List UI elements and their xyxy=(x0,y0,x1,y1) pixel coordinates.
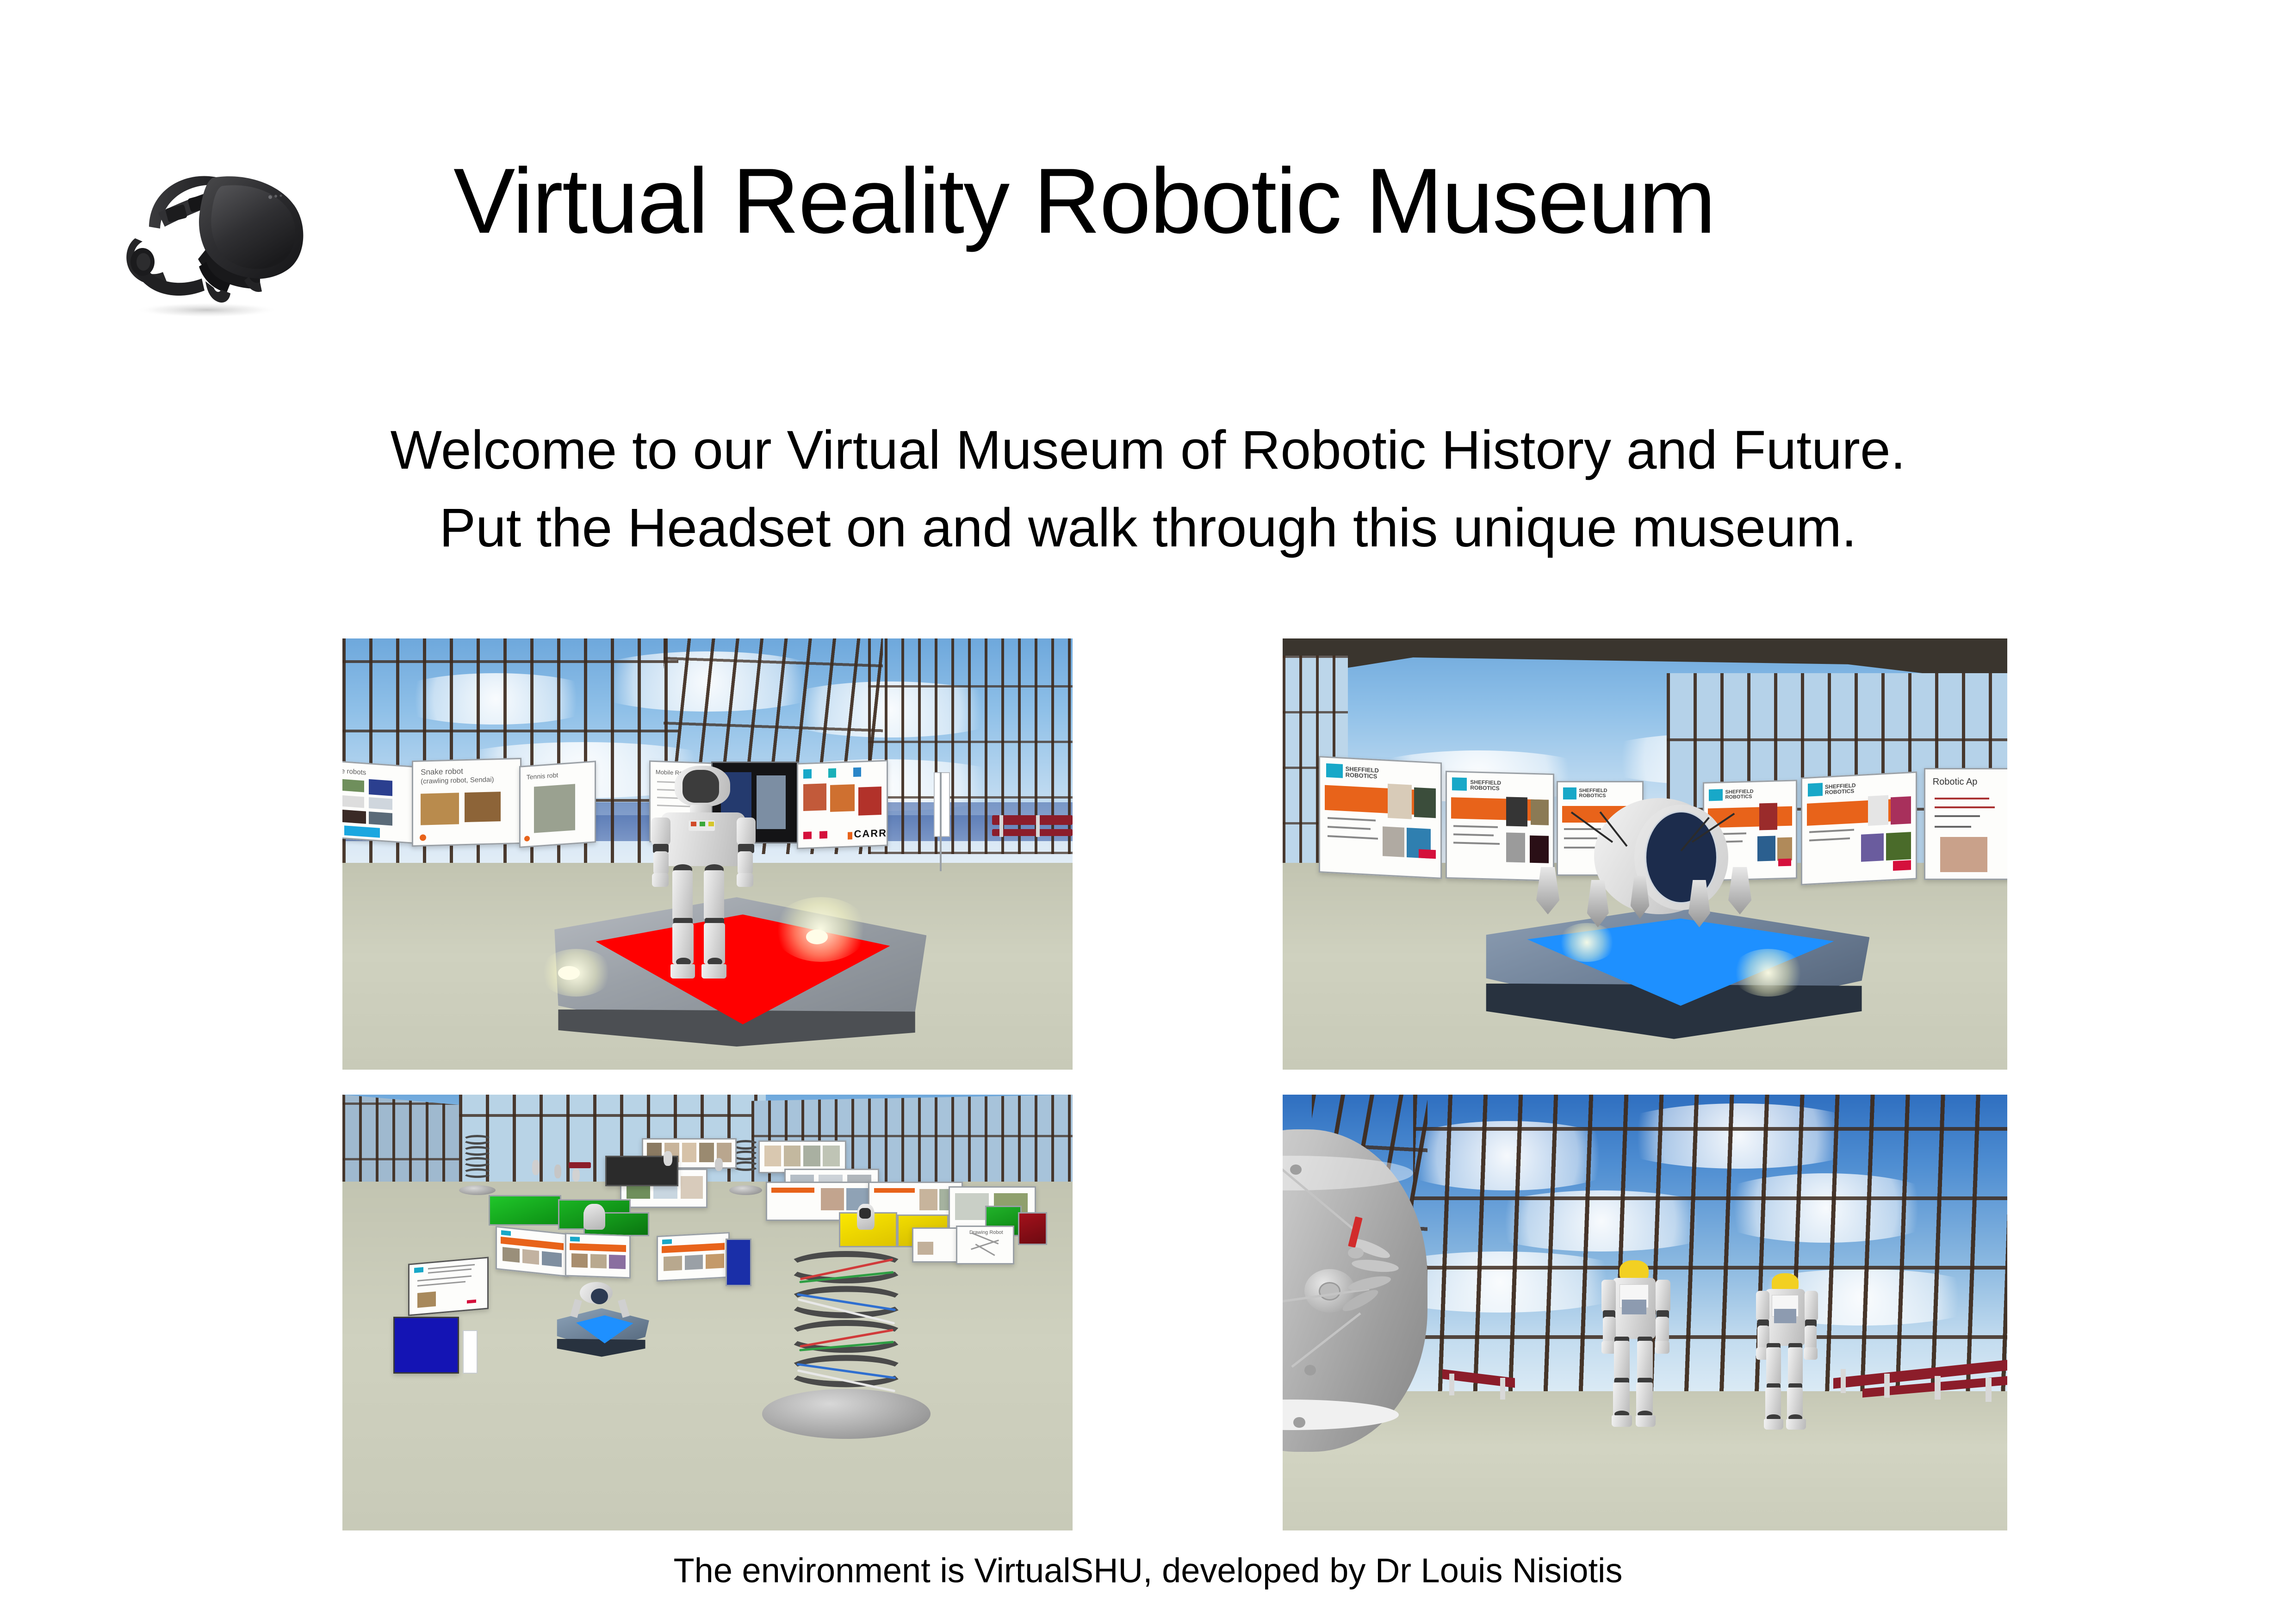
poster-board: SHEFFIELDROBOTICS xyxy=(1801,771,1917,885)
screenshot-bottom-right xyxy=(1283,1095,2007,1530)
screenshot-bottom-left: Drawing Robot xyxy=(342,1095,1073,1530)
poster-board: SHEFFIELDROBOTICS xyxy=(1319,756,1442,879)
dna-helix-sculpture-large xyxy=(781,1247,912,1439)
screenshot-top-left: e robots Snake robot (crawling robot, Se… xyxy=(342,638,1073,1070)
screenshot-grid: e robots Snake robot (crawling robot, Se… xyxy=(0,0,2296,1623)
poster-board: SHEFFIELDROBOTICS xyxy=(1446,771,1554,881)
environment-caption: The environment is VirtualSHU, developed… xyxy=(0,1551,2296,1590)
carr-logo: CARR xyxy=(854,827,887,840)
blue-display-panel xyxy=(726,1239,751,1287)
screenshot-top-right: SHEFFIELDROBOTICS SHEFFIELDROBOTICS xyxy=(1283,638,2007,1070)
green-display-panel xyxy=(489,1195,562,1226)
dna-helix-sculpture xyxy=(459,1134,496,1195)
shu-logo xyxy=(1893,860,1911,870)
poster-board-robotic-applications: Robotic Ap xyxy=(1924,768,2007,880)
blue-display-panel xyxy=(393,1317,459,1373)
slide-root: Virtual Reality Robotic Museum Welcome t… xyxy=(0,0,2296,1623)
